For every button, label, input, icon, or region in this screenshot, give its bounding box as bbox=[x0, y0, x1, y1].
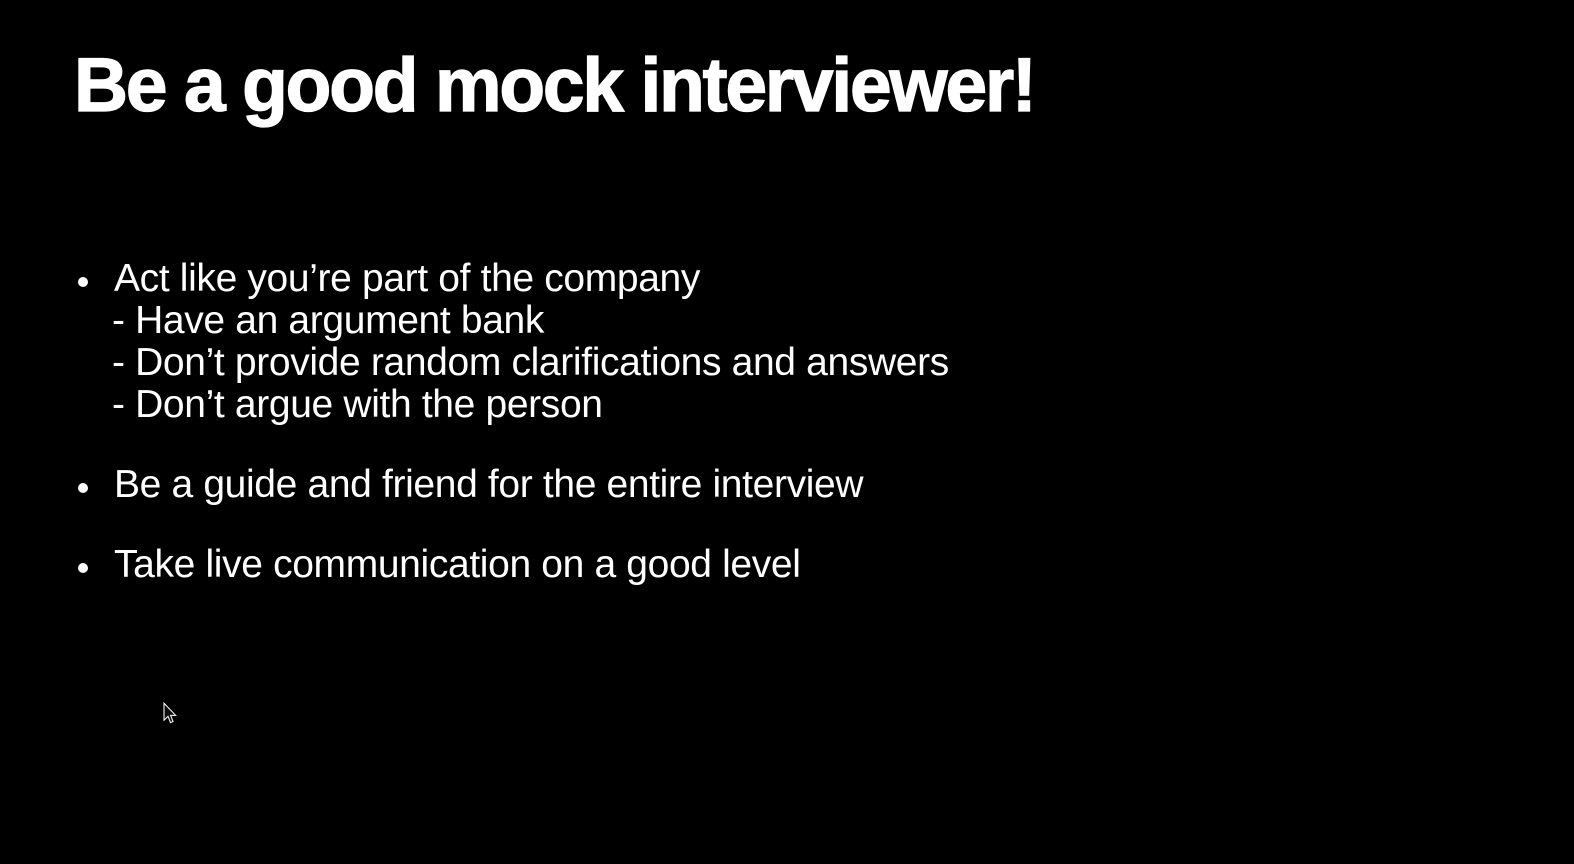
presentation-slide: Be a good mock interviewer! Act like you… bbox=[0, 0, 1574, 864]
bullet-item-label: Take live communication on a good level bbox=[114, 543, 801, 586]
bullet-group: Take live communication on a good level bbox=[74, 544, 1274, 586]
bullet-item: Be a guide and friend for the entire int… bbox=[74, 464, 1274, 506]
bullet-item: Take live communication on a good level bbox=[74, 544, 1274, 586]
sub-item: - Don’t provide random clarifications an… bbox=[74, 342, 1274, 384]
bullet-item-label: Be a guide and friend for the entire int… bbox=[114, 463, 863, 506]
bullet-item: Act like you’re part of the company bbox=[74, 258, 1274, 300]
slide-title: Be a good mock interviewer! bbox=[74, 48, 1035, 124]
bullet-group: Act like you’re part of the company - Ha… bbox=[74, 258, 1274, 426]
bullet-dot-icon bbox=[78, 277, 88, 287]
bullet-dot-icon bbox=[78, 483, 88, 493]
slide-body: Act like you’re part of the company - Ha… bbox=[74, 258, 1274, 586]
sub-item: - Have an argument bank bbox=[74, 300, 1274, 342]
bullet-group: Be a guide and friend for the entire int… bbox=[74, 464, 1274, 506]
bullet-item-label: Act like you’re part of the company bbox=[114, 257, 700, 300]
bullet-dot-icon bbox=[78, 563, 88, 573]
sub-item: - Don’t argue with the person bbox=[74, 384, 1274, 426]
arrow-pointer-icon bbox=[162, 702, 178, 726]
sub-item-list: - Have an argument bank - Don’t provide … bbox=[74, 300, 1274, 426]
